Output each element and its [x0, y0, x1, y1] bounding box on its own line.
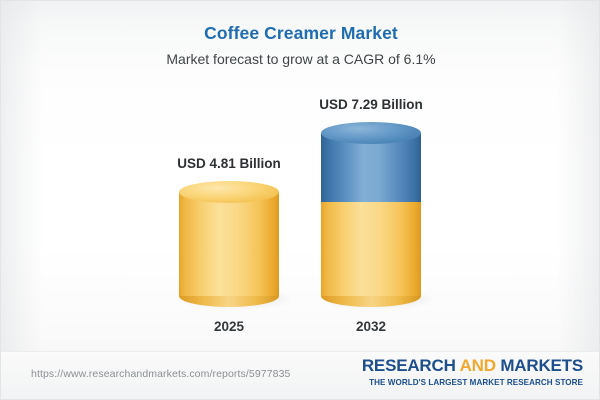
brand-logo-word-research: RESEARCH: [362, 356, 456, 375]
infographic-canvas: Coffee Creamer Market Market forecast to…: [0, 0, 600, 400]
footer-bar: https://www.researchandmarkets.com/repor…: [1, 351, 600, 399]
brand-logo-wordmark: RESEARCH AND MARKETS: [362, 357, 583, 376]
cylinder-2032[interactable]: [321, 122, 421, 307]
cylinder-side-2025: [179, 192, 279, 296]
brand-logo-word-markets: MARKETS: [500, 356, 583, 375]
bar-category-label-2032: 2032: [271, 319, 471, 334]
brand-logo-word-and: AND: [460, 356, 496, 375]
report-url[interactable]: https://www.researchandmarkets.com/repor…: [31, 368, 290, 380]
cylinder-top-cap-2025: [179, 181, 279, 203]
brand-logo[interactable]: RESEARCH AND MARKETS THE WORLD'S LARGEST…: [362, 357, 583, 387]
chart-plot-area: USD 4.81 Billion 2025 USD 7.29 Billion: [1, 1, 599, 399]
cylinder-segment-base-2032: [321, 191, 421, 296]
cylinder-2025[interactable]: [179, 181, 279, 307]
cylinder-side-base-2032: [321, 191, 421, 296]
bar-value-label-2025: USD 4.81 Billion: [129, 156, 329, 171]
cylinder-segment-base-2025: [179, 192, 279, 296]
brand-logo-tagline: THE WORLD'S LARGEST MARKET RESEARCH STOR…: [362, 378, 583, 387]
bar-value-label-2032: USD 7.29 Billion: [271, 97, 471, 112]
cylinder-top-cap-2032: [321, 122, 421, 144]
